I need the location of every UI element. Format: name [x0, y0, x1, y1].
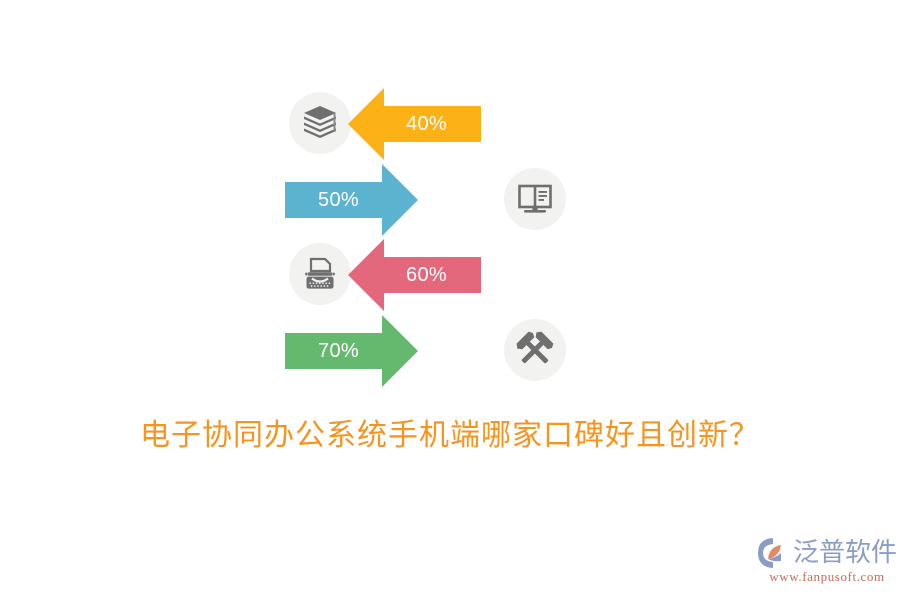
infographic-row: 70%: [285, 315, 585, 387]
arrow-shape: [285, 164, 418, 236]
watermark-logo: 泛普软件 www.fanpusoft.com: [757, 536, 897, 590]
arrow-70-percent: 70%: [285, 315, 418, 387]
arrow-shape: [285, 315, 418, 387]
logo-name: 泛普软件: [793, 538, 897, 568]
books-stack-icon: [289, 92, 351, 154]
open-book-icon: [504, 168, 566, 230]
page-canvas: 40% 50%: [0, 0, 900, 600]
infographic-row: 60%: [285, 239, 585, 311]
logo-top-row: 泛普软件: [757, 536, 897, 570]
infographic-row: 50%: [285, 164, 585, 236]
typewriter-icon: [289, 243, 351, 305]
page-title: 电子协同办公系统手机端哪家口碑好且创新？: [0, 410, 900, 454]
arrow-shape: [348, 239, 481, 311]
arrow-50-percent: 50%: [285, 164, 418, 236]
arrow-40-percent: 40%: [348, 88, 481, 160]
crossed-hammers-icon: [504, 319, 566, 381]
arrow-shape: [348, 88, 481, 160]
logo-url: www.fanpusoft.com: [757, 569, 897, 585]
arrow-infographic: 40% 50%: [285, 88, 585, 398]
fanpu-logo-mark-icon: [757, 537, 791, 569]
arrow-60-percent: 60%: [348, 239, 481, 311]
infographic-row: 40%: [285, 88, 585, 160]
